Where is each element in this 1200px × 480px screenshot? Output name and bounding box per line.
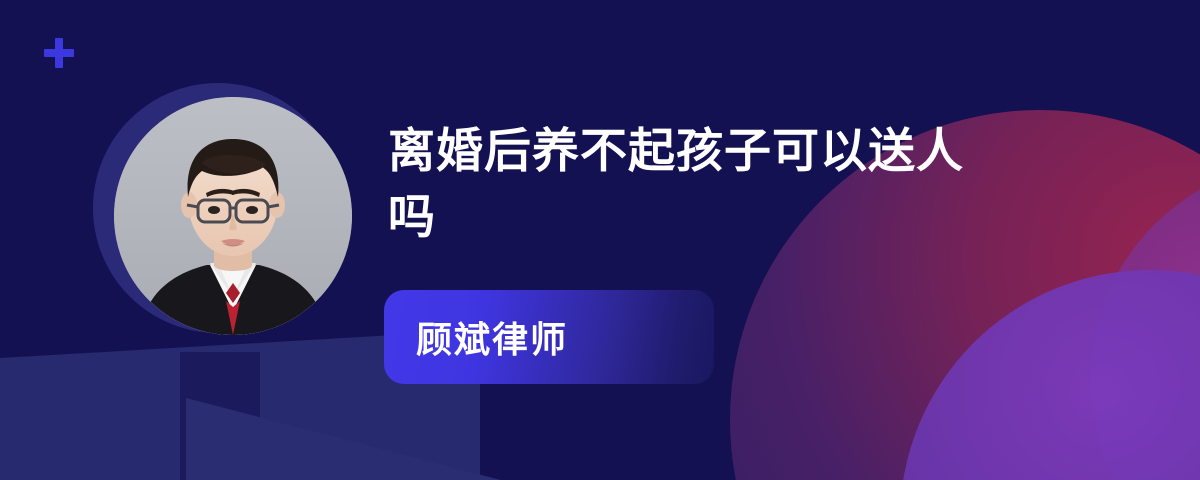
lawyer-name-label: 顾斌律师 — [384, 311, 568, 363]
plus-icon — [44, 38, 74, 68]
headline-title: 离婚后养不起孩子可以送人吗 — [388, 118, 1008, 250]
content-block: 离婚后养不起孩子可以送人吗 顾斌律师 — [388, 0, 1088, 480]
plus-icon-vertical-bar — [55, 38, 63, 68]
avatar — [93, 83, 343, 333]
lawyer-name-pill[interactable]: 顾斌律师 — [384, 290, 714, 384]
lawyer-article-banner: 离婚后养不起孩子可以送人吗 顾斌律师 — [0, 0, 1200, 480]
avatar-photo — [114, 97, 352, 335]
